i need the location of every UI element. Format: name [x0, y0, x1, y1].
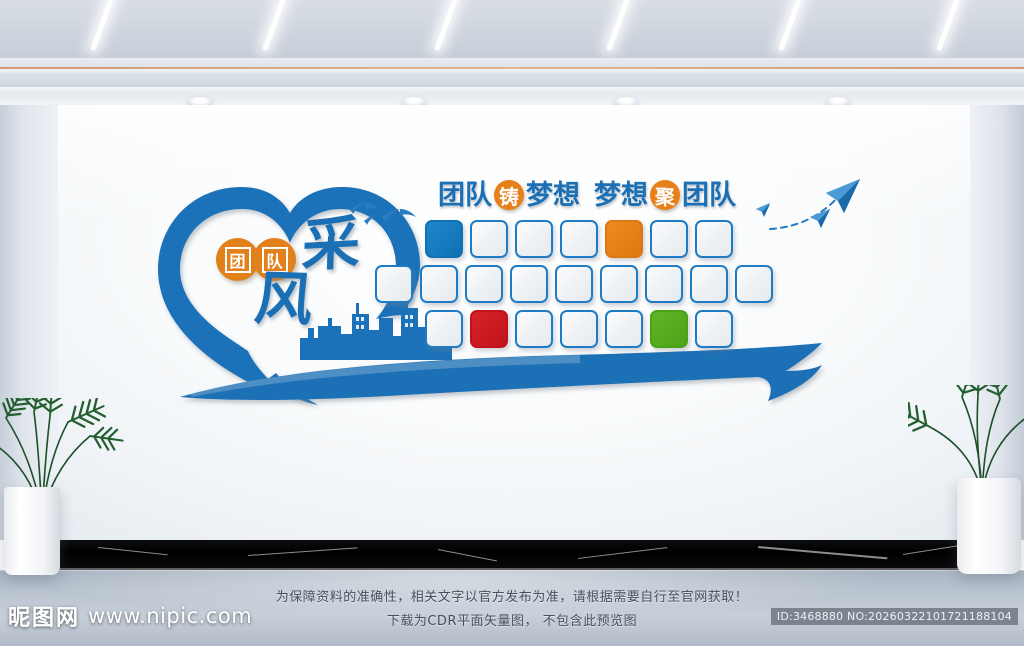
- headline-char-6: 梦: [594, 182, 621, 209]
- floor-wall-joint: [0, 568, 1024, 571]
- photo-frame-r3-c7[interactable]: [695, 310, 733, 348]
- photo-frame-r2-c6[interactable]: [600, 265, 638, 303]
- headline-char-7: 想: [621, 182, 648, 209]
- photo-frame-r3-c3[interactable]: [515, 310, 553, 348]
- photo-frame-r3-c1[interactable]: [425, 310, 463, 348]
- photo-frame-r1-c1[interactable]: [425, 220, 463, 258]
- photo-frame-r3-c6[interactable]: [650, 310, 688, 348]
- photo-frame-r2-c4[interactable]: [510, 265, 548, 303]
- dashed-trail-icon: [770, 195, 840, 229]
- headline-circle-zhu: 铸: [494, 180, 524, 210]
- headline-char-10: 队: [709, 182, 736, 209]
- artwork-headline: 团 队 铸 梦 想 梦 想 聚 团 队: [438, 180, 736, 210]
- asset-id-tag: ID:3468880 NO:20260322101721188104: [771, 608, 1018, 625]
- ceiling-beam-upper: [0, 58, 1024, 67]
- badge-tuan-label: 团: [225, 247, 251, 273]
- photo-frame-r2-c8[interactable]: [690, 265, 728, 303]
- watermark-brand: 昵图网: [8, 600, 80, 632]
- ceiling: [0, 0, 1024, 62]
- watermark: 昵图网 www.nipic.com: [8, 600, 252, 632]
- headline-circle-ju: 聚: [650, 180, 680, 210]
- photo-frame-r2-c3[interactable]: [465, 265, 503, 303]
- calligraphy-feng: 风: [252, 269, 316, 329]
- watermark-url: www.nipic.com: [88, 604, 252, 628]
- screenshot-root: 团 队 铸 梦 想 梦 想 聚 团 队 团 队 采 风 为保障资料的准确性，相关: [0, 0, 1024, 646]
- headline-char-1: 团: [438, 182, 465, 209]
- photo-frame-r2-c7[interactable]: [645, 265, 683, 303]
- photo-frame-r1-c7[interactable]: [695, 220, 733, 258]
- plant-pot-left: [4, 487, 60, 575]
- paper-plane-icon-mid: [810, 209, 830, 228]
- photo-frame-r2-c2[interactable]: [420, 265, 458, 303]
- photo-frame-r1-c5[interactable]: [605, 220, 643, 258]
- photo-frame-r1-c6[interactable]: [650, 220, 688, 258]
- blue-ribbon-swoosh: [180, 343, 822, 401]
- paper-plane-icon-small: [756, 203, 770, 217]
- photo-frame-r1-c4[interactable]: [560, 220, 598, 258]
- wall-culture-artwork: 团 队 铸 梦 想 梦 想 聚 团 队 团 队 采 风: [150, 165, 870, 415]
- ceiling-beam-lower: [0, 73, 1024, 87]
- photo-frame-r1-c2[interactable]: [470, 220, 508, 258]
- photo-frame-r1-c3[interactable]: [515, 220, 553, 258]
- photo-frame-r2-c1[interactable]: [375, 265, 413, 303]
- photo-frame-r3-c5[interactable]: [605, 310, 643, 348]
- headline-char-9: 团: [682, 182, 709, 209]
- photo-frame-r2-c5[interactable]: [555, 265, 593, 303]
- photo-frame-r3-c4[interactable]: [560, 310, 598, 348]
- baseboard-marble: [58, 540, 970, 570]
- headline-char-2: 队: [465, 182, 492, 209]
- paper-plane-icon-large: [826, 179, 860, 213]
- photo-frame-r3-c2[interactable]: [470, 310, 508, 348]
- photo-frame-r2-c9[interactable]: [735, 265, 773, 303]
- plant-pot-right: [957, 478, 1021, 574]
- headline-char-5: 想: [553, 182, 580, 209]
- headline-char-4: 梦: [526, 182, 553, 209]
